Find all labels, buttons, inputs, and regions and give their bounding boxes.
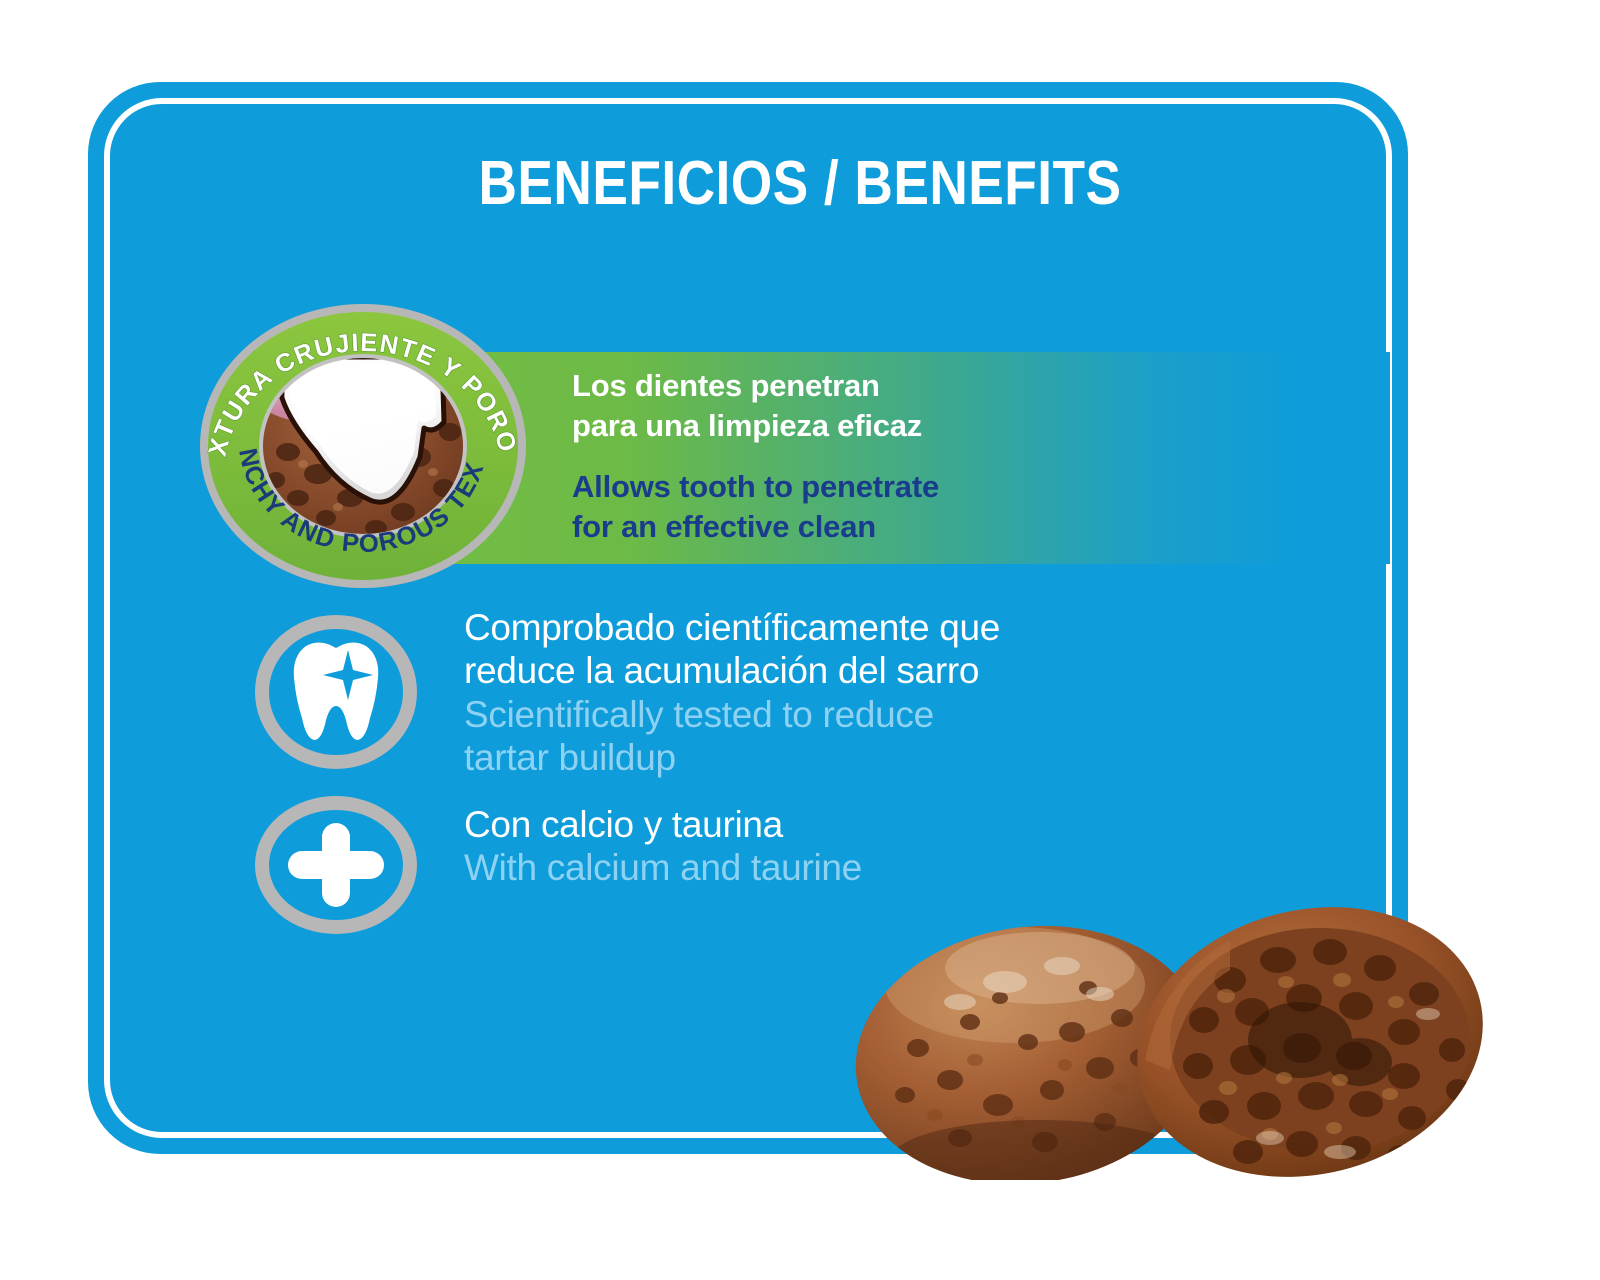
feature-english-line-1: With calcium and taurine <box>464 846 862 889</box>
feature-text-scientifically-tested: Comprobado científicamente que reduce la… <box>464 606 1000 779</box>
benefits-panel-image: BENEFICIOS / BENEFITS Los dientes penetr… <box>0 0 1600 1280</box>
crunchy-porous-texture-badge: TEXTURA CRUJIENTE Y POROSA CRUNCHY AND P… <box>198 302 528 590</box>
feature-english-line-2: tartar buildup <box>464 736 1000 779</box>
feature-spanish-line-1: Con calcio y taurina <box>464 803 862 846</box>
page-title: BENEFICIOS / BENEFITS <box>112 148 1488 219</box>
banner-text-block: Los dientes penetran para una limpieza e… <box>572 366 1132 547</box>
feature-spanish-line-2: reduce la acumulación del sarro <box>464 649 1000 692</box>
banner-spanish-text: Los dientes penetran para una limpieza e… <box>572 366 1132 445</box>
banner-spanish-line-1: Los dientes penetran <box>572 366 1132 406</box>
cut-kibble-porous-interior <box>1108 890 1511 1180</box>
banner-english-text: Allows tooth to penetrate for an effecti… <box>572 467 1132 546</box>
plus-icon <box>252 795 420 940</box>
banner-spanish-line-2: para una limpieza eficaz <box>572 406 1132 446</box>
kibble-pieces-photo <box>800 890 1520 1180</box>
banner-english-line-2: for an effective clean <box>572 507 1132 547</box>
banner-english-line-1: Allows tooth to penetrate <box>572 467 1132 507</box>
feature-english-line-1: Scientifically tested to reduce <box>464 693 1000 736</box>
tooth-sparkle-icon <box>252 612 420 777</box>
feature-spanish-line-1: Comprobado científicamente que <box>464 606 1000 649</box>
feature-row-calcium-taurine: Con calcio y taurina With calcium and ta… <box>252 795 862 940</box>
feature-row-scientifically-tested: Comprobado científicamente que reduce la… <box>252 612 1000 779</box>
feature-text-calcium-taurine: Con calcio y taurina With calcium and ta… <box>464 803 862 890</box>
